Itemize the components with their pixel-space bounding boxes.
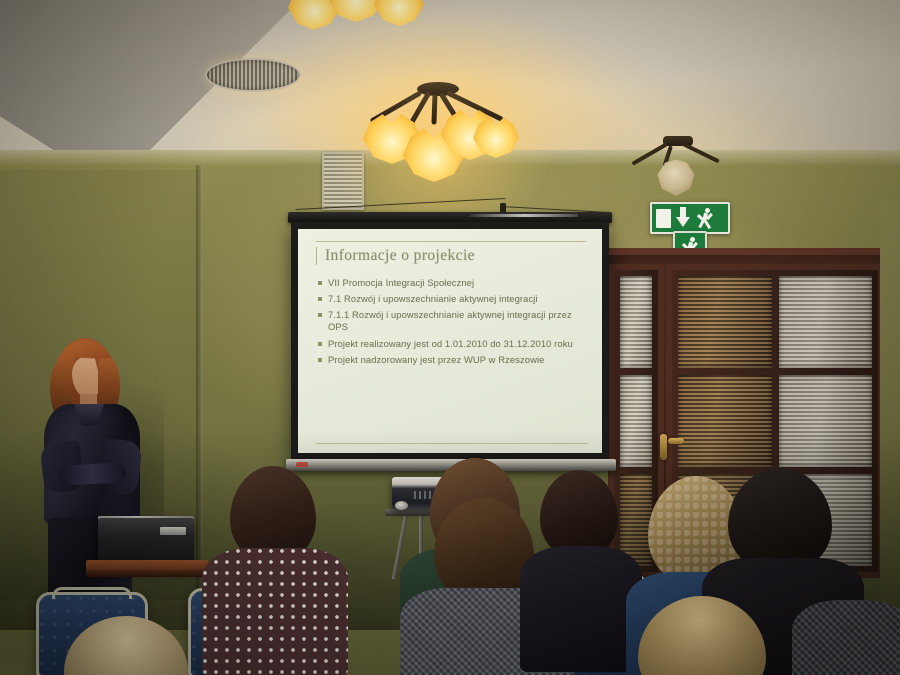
audience-head	[728, 468, 832, 572]
screen-top-bar-highlight	[470, 214, 578, 217]
bullet-text: 7.1 Rozwój i upowszechnianie aktywnej in…	[328, 293, 590, 305]
audience-member	[530, 470, 628, 670]
projection-screen: Informacje o projekcie VII Promocja Inte…	[298, 229, 602, 453]
wall-lamp-arm	[682, 142, 720, 163]
bullet-text: VII Promocja Integracji Społecznej	[328, 277, 590, 289]
audience-shoulders	[202, 548, 348, 675]
slide: Informacje o projekcie VII Promocja Inte…	[298, 229, 602, 453]
audience-head	[434, 498, 534, 602]
bullet-square-icon	[318, 358, 322, 362]
slide-bullet-item: Projekt nadzorowany jest przez WUP w Rze…	[318, 354, 590, 366]
audience-head	[540, 470, 618, 558]
exit-arrow-icon	[674, 207, 692, 229]
chandelier-arm	[431, 94, 437, 124]
wall-lamp-icon	[627, 136, 727, 196]
projector-lens-icon	[395, 501, 408, 510]
slide-bullet-list: VII Promocja Integracji Społecznej 7.1 R…	[318, 277, 590, 366]
audience-member	[64, 616, 190, 675]
photo-scene: Informacje o projekcie VII Promocja Inte…	[0, 0, 900, 675]
presenter-table-edge	[86, 570, 208, 577]
running-person-icon	[694, 207, 716, 229]
bullet-text: 7.1.1 Rozwój i upowszechnianie aktywnej …	[328, 309, 590, 333]
chandelier-top-cropped	[288, 0, 438, 34]
laptop[interactable]	[98, 518, 194, 562]
bullet-square-icon	[318, 313, 322, 317]
bullet-text: Projekt realizowany jest od 1.01.2010 do…	[328, 338, 590, 350]
wall-lamp-shade	[655, 158, 697, 196]
slide-bullet-item: Projekt realizowany jest od 1.01.2010 do…	[318, 338, 590, 350]
bullet-text: Projekt nadzorowany jest przez WUP w Rze…	[328, 354, 590, 366]
audience-shoulders	[520, 546, 642, 672]
slide-bullet-item: 7.1 Rozwój i upowszechnianie aktywnej in…	[318, 293, 590, 305]
audience-head	[638, 596, 766, 675]
audience-member	[638, 596, 768, 675]
bullet-square-icon	[318, 297, 322, 301]
audience-member	[792, 600, 900, 675]
bullet-square-icon	[318, 342, 322, 346]
ceiling-vent-icon	[205, 58, 301, 92]
audience-member	[216, 466, 336, 675]
presenter-crossed-arms	[58, 462, 127, 486]
audience-head	[64, 616, 188, 675]
audience-shoulders	[792, 600, 900, 675]
slide-title-area: Informacje o projekcie	[316, 241, 586, 265]
exit-sign-icon	[650, 202, 730, 234]
bullet-square-icon	[318, 281, 322, 285]
slide-title: Informacje o projekcie	[316, 247, 586, 265]
chandelier-icon	[355, 82, 515, 187]
slide-bullet-item: VII Promocja Integracji Społecznej	[318, 277, 590, 289]
slide-bullet-item: 7.1.1 Rozwój i upowszechnianie aktywnej …	[318, 309, 590, 333]
exit-door-glyph	[656, 209, 671, 228]
laptop-badge	[160, 527, 186, 535]
